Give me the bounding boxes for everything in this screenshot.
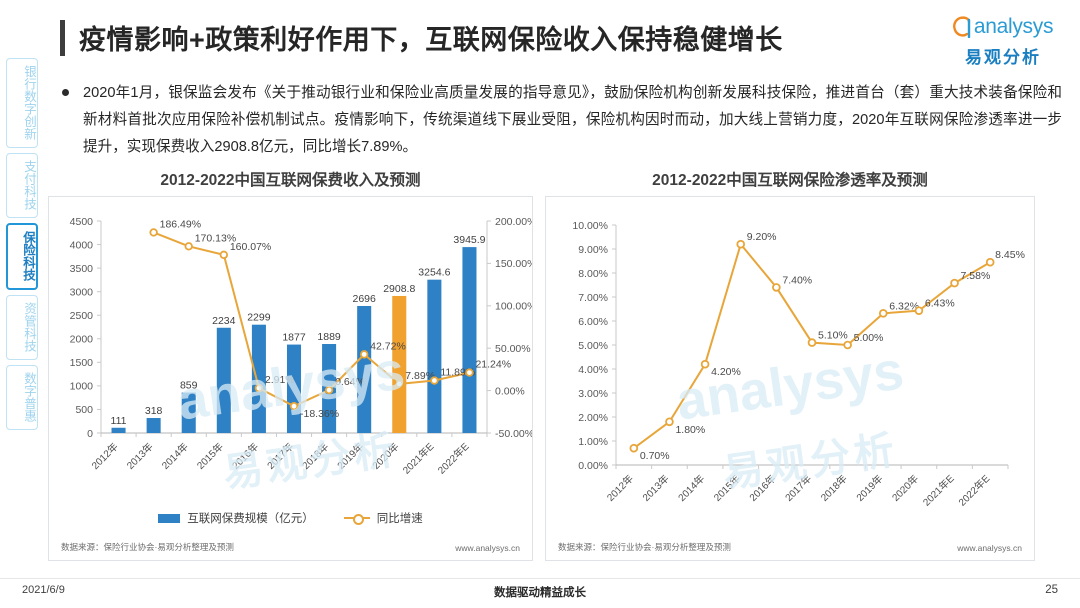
svg-text:2017年: 2017年 <box>264 440 296 472</box>
sidebar-item-label: 保险科技 <box>20 231 36 281</box>
svg-text:2019年: 2019年 <box>853 472 885 504</box>
svg-text:2018年: 2018年 <box>818 472 850 504</box>
footer-slogan: 数据驱动精益成长 <box>0 584 1080 600</box>
svg-text:2908.8: 2908.8 <box>383 283 415 295</box>
svg-text:10.00%: 10.00% <box>572 220 608 232</box>
combo-chart-left: 050010001500200025003000350040004500-50.… <box>49 197 532 497</box>
svg-text:0.64%: 0.64% <box>335 376 365 388</box>
svg-text:7.40%: 7.40% <box>782 274 812 286</box>
svg-text:111: 111 <box>111 415 127 427</box>
bullet-text: 2020年1月，银保监会发布《关于推动银行业和保险业高质量发展的指导意见》，鼓励… <box>83 80 1062 161</box>
sidebar-item-inclusive-finance[interactable]: 数字普惠 <box>6 365 38 430</box>
source-url-right: www.analysys.cn <box>957 543 1022 553</box>
svg-text:6.32%: 6.32% <box>889 300 919 312</box>
svg-text:2.00%: 2.00% <box>578 412 608 424</box>
svg-text:0: 0 <box>87 428 93 440</box>
svg-text:160.07%: 160.07% <box>230 241 271 253</box>
chart-legend-left: 互联网保费规模（亿元） 同比增速 <box>49 510 532 526</box>
svg-text:21.24%: 21.24% <box>475 359 511 371</box>
svg-text:2500: 2500 <box>70 310 94 322</box>
svg-text:1.80%: 1.80% <box>675 424 705 436</box>
sidebar-item-insurance[interactable]: 保险科技 <box>6 223 38 290</box>
logo-swoosh-icon <box>953 16 973 38</box>
svg-text:2021年E: 2021年E <box>400 440 437 477</box>
svg-text:859: 859 <box>180 380 198 392</box>
svg-text:9.20%: 9.20% <box>747 231 777 243</box>
svg-text:150.00%: 150.00% <box>495 258 532 270</box>
svg-text:186.49%: 186.49% <box>160 218 201 230</box>
legend-item-bar: 互联网保费规模（亿元） <box>158 510 314 526</box>
source-note-right: 数据来源：保险行业协会·易观分析整理及预测 <box>558 541 731 553</box>
sidebar-item-label: 数字普惠 <box>21 372 37 422</box>
slide-page: 疫情影响+政策利好作用下，互联网保险收入保持稳健增长 analysys 易观分析… <box>0 0 1080 608</box>
page-title: 疫情影响+政策利好作用下，互联网保险收入保持稳健增长 <box>60 18 783 57</box>
svg-text:2.91%: 2.91% <box>265 374 295 386</box>
svg-text:3000: 3000 <box>70 286 94 298</box>
chart-panel-right: analysys 易观分析 0.00%1.00%2.00%3.00%4.00%5… <box>545 196 1035 561</box>
legend-line-swatch <box>344 513 370 523</box>
svg-text:4.20%: 4.20% <box>711 366 741 378</box>
svg-text:2015年: 2015年 <box>194 440 226 472</box>
svg-text:3.00%: 3.00% <box>578 388 608 400</box>
footer-page-number: 25 <box>1045 584 1058 596</box>
page-title-text: 疫情影响+政策利好作用下，互联网保险收入保持稳健增长 <box>79 18 783 57</box>
svg-text:6.43%: 6.43% <box>925 298 955 310</box>
svg-text:2299: 2299 <box>247 312 271 324</box>
svg-text:3254.6: 3254.6 <box>418 267 450 279</box>
svg-text:1889: 1889 <box>317 331 341 343</box>
svg-text:4000: 4000 <box>70 239 94 251</box>
logo-chinese-name: 易观分析 <box>944 43 1062 68</box>
chart-title-right: 2012-2022中国互联网保险渗透率及预测 <box>545 168 1035 190</box>
svg-text:2016年: 2016年 <box>229 440 261 472</box>
svg-text:2022年E: 2022年E <box>956 472 993 509</box>
title-accent-rule <box>60 20 65 56</box>
sidebar-item-bank[interactable]: 银行数字创新 <box>6 58 38 148</box>
chart-panel-left: analysys 易观分析 05001000150020002500300035… <box>48 196 533 561</box>
svg-text:318: 318 <box>145 405 163 417</box>
legend-bar-label: 互联网保费规模（亿元） <box>187 510 314 526</box>
svg-text:2020年: 2020年 <box>889 472 921 504</box>
analysys-logo: analysys 易观分析 <box>944 12 1062 68</box>
svg-text:2013年: 2013年 <box>640 472 672 504</box>
svg-text:2012年: 2012年 <box>89 440 121 472</box>
svg-text:-50.00%: -50.00% <box>495 428 532 440</box>
svg-text:2020年: 2020年 <box>369 440 401 472</box>
legend-line-label: 同比增速 <box>377 510 423 526</box>
svg-text:1877: 1877 <box>282 332 306 344</box>
sidebar-item-payment[interactable]: 支付科技 <box>6 153 38 218</box>
svg-text:0.70%: 0.70% <box>640 450 670 462</box>
svg-text:0.00%: 0.00% <box>495 385 525 397</box>
logo-wordmark: analysys <box>974 16 1053 38</box>
svg-text:2014年: 2014年 <box>675 472 707 504</box>
svg-text:2696: 2696 <box>353 293 377 305</box>
sidebar-item-label: 银行数字创新 <box>21 65 37 140</box>
svg-text:2234: 2234 <box>212 315 236 327</box>
sidebar-item-label: 资管科技 <box>21 302 37 352</box>
svg-text:2017年: 2017年 <box>782 472 814 504</box>
bullet-paragraph: 2020年1月，银保监会发布《关于推动银行业和保险业高质量发展的指导意见》，鼓励… <box>62 80 1062 161</box>
svg-text:2000: 2000 <box>70 334 94 346</box>
svg-text:2014年: 2014年 <box>159 440 191 472</box>
svg-text:1000: 1000 <box>70 381 94 393</box>
legend-item-line: 同比增速 <box>344 510 423 526</box>
svg-text:2019年: 2019年 <box>334 440 366 472</box>
svg-text:2015年: 2015年 <box>711 472 743 504</box>
svg-text:8.45%: 8.45% <box>995 249 1025 261</box>
svg-text:1500: 1500 <box>70 357 94 369</box>
svg-text:200.00%: 200.00% <box>495 216 532 228</box>
svg-text:4500: 4500 <box>70 216 94 228</box>
svg-text:4.00%: 4.00% <box>578 364 608 376</box>
svg-text:5.00%: 5.00% <box>578 340 608 352</box>
legend-bar-swatch <box>158 514 180 523</box>
svg-text:42.72%: 42.72% <box>370 340 406 352</box>
svg-text:7.58%: 7.58% <box>961 270 991 282</box>
sidebar: 银行数字创新 支付科技 保险科技 资管科技 数字普惠 <box>6 58 40 435</box>
svg-text:7.00%: 7.00% <box>578 292 608 304</box>
svg-text:8.00%: 8.00% <box>578 268 608 280</box>
svg-text:5.10%: 5.10% <box>818 330 848 342</box>
svg-text:5.00%: 5.00% <box>854 332 884 344</box>
svg-text:-18.36%: -18.36% <box>300 408 339 420</box>
sidebar-item-asset-management[interactable]: 资管科技 <box>6 295 38 360</box>
source-url-left: www.analysys.cn <box>455 543 520 553</box>
footer-divider <box>0 578 1080 579</box>
svg-text:500: 500 <box>75 404 93 416</box>
svg-text:1.00%: 1.00% <box>578 436 608 448</box>
svg-text:2021年E: 2021年E <box>920 472 957 509</box>
svg-text:3500: 3500 <box>70 263 94 275</box>
svg-text:2016年: 2016年 <box>746 472 778 504</box>
svg-text:2012年: 2012年 <box>604 472 636 504</box>
svg-text:2018年: 2018年 <box>299 440 331 472</box>
svg-text:0.00%: 0.00% <box>578 460 608 472</box>
svg-text:3945.9: 3945.9 <box>453 234 485 246</box>
sidebar-item-label: 支付科技 <box>21 160 37 210</box>
svg-text:100.00%: 100.00% <box>495 301 532 313</box>
line-chart-right: 0.00%1.00%2.00%3.00%4.00%5.00%6.00%7.00%… <box>546 197 1034 535</box>
chart-title-left: 2012-2022中国互联网保费收入及预测 <box>48 168 533 190</box>
svg-text:2013年: 2013年 <box>124 440 156 472</box>
source-note-left: 数据来源：保险行业协会·易观分析整理及预测 <box>61 541 234 553</box>
svg-text:9.00%: 9.00% <box>578 244 608 256</box>
svg-text:2022年E: 2022年E <box>435 440 472 477</box>
bullet-dot-icon <box>62 89 69 96</box>
svg-text:6.00%: 6.00% <box>578 316 608 328</box>
svg-text:50.00%: 50.00% <box>495 343 531 355</box>
